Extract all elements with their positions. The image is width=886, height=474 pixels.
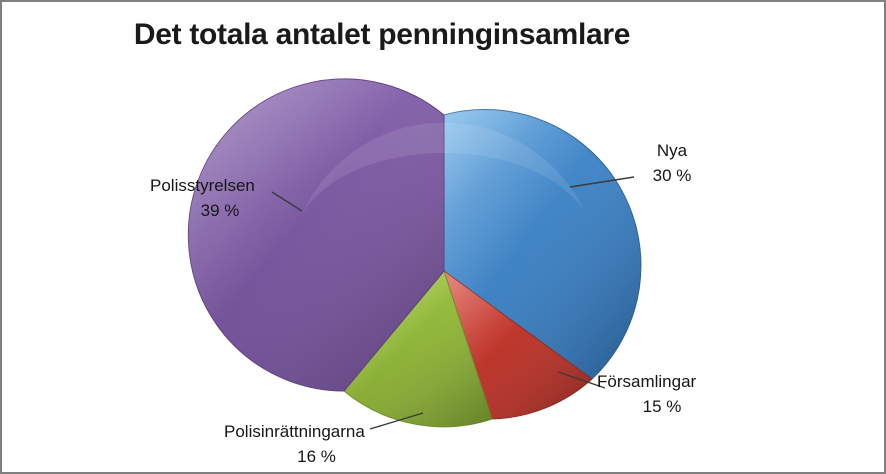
- pie-chart-svg: [2, 2, 886, 474]
- data-label-nya: Nya 30 %: [627, 139, 717, 188]
- data-label-polisstyrelsen: Polisstyrelsen 39 %: [150, 174, 290, 223]
- data-label-polisinrattningarna: Polisinrättningarna 16 %: [224, 420, 409, 469]
- chart-container: Det totala antalet penninginsamlare: [0, 0, 886, 474]
- data-label-forsamlingar-value: 15 %: [597, 395, 727, 420]
- data-label-forsamlingar: Församlingar 15 %: [597, 370, 727, 419]
- data-label-polisstyrelsen-name: Polisstyrelsen: [150, 174, 290, 199]
- data-label-polisinrattningarna-value: 16 %: [224, 445, 409, 470]
- pie-plot-area: Nya 30 % Församlingar 15 % Polisinrättni…: [2, 2, 886, 474]
- data-label-nya-name: Nya: [627, 139, 717, 164]
- data-label-nya-value: 30 %: [627, 164, 717, 189]
- data-label-forsamlingar-name: Församlingar: [597, 370, 727, 395]
- data-label-polisinrattningarna-name: Polisinrättningarna: [224, 420, 409, 445]
- data-label-polisstyrelsen-value: 39 %: [150, 199, 290, 224]
